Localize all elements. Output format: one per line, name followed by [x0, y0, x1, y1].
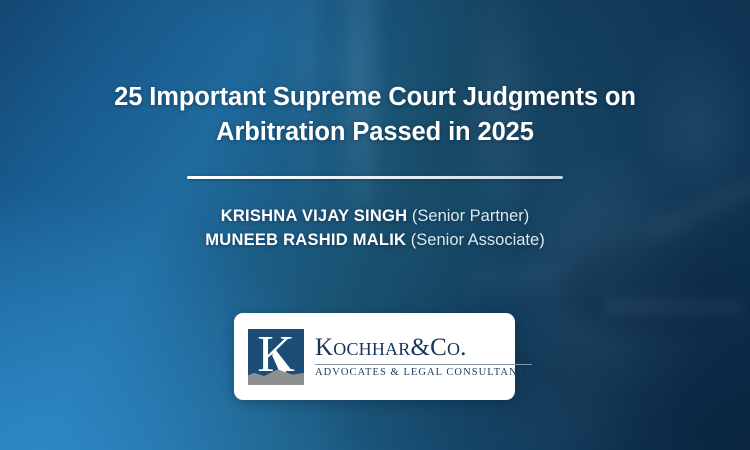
author-role: (Senior Partner): [412, 207, 529, 225]
logo-wordmark: Kochhar&Co. ADVOCATES & LEGAL CONSULTANT…: [315, 335, 532, 378]
author-name: MUNEEB RASHID MALIK: [205, 231, 406, 249]
logo-card: K Kochhar&Co. ADVOCATES & LEGAL CONSULTA…: [234, 313, 515, 400]
author-byline: KRISHNA VIJAY SINGH (Senior Partner) MUN…: [205, 205, 544, 252]
article-banner: 25 Important Supreme Court Judgments on …: [0, 0, 750, 450]
logo-company-name: Kochhar&Co.: [315, 335, 532, 361]
author-row: MUNEEB RASHID MALIK (Senior Associate): [205, 229, 544, 252]
author-role: (Senior Associate): [411, 231, 545, 249]
author-name: KRISHNA VIJAY SINGH: [221, 207, 408, 225]
logo-divider: [315, 364, 532, 365]
kochhar-k-monogram-icon: K: [248, 329, 304, 385]
logo-tagline: ADVOCATES & LEGAL CONSULTANTS: [315, 367, 532, 378]
page-title: 25 Important Supreme Court Judgments on …: [55, 0, 695, 149]
author-row: KRISHNA VIJAY SINGH (Senior Partner): [205, 205, 544, 228]
title-divider: [187, 176, 563, 179]
